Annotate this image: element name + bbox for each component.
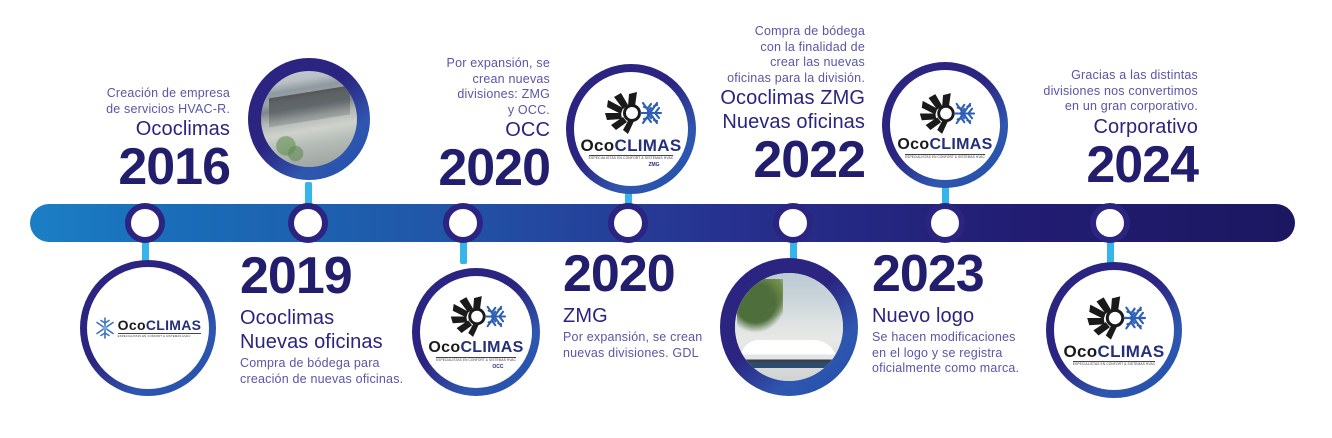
warehouse-aerial-photo xyxy=(261,71,357,167)
event-year: 2020 xyxy=(395,142,550,194)
timeline-node-5[interactable] xyxy=(773,203,813,243)
logo-division-label: OCC xyxy=(492,365,503,370)
event-year: 2020 xyxy=(563,248,728,300)
ococlimas-logo-classic: OcoCLIMAS ESPECIALISTAS EN CONFORT & SIS… xyxy=(95,317,202,339)
logo-tagline: ESPECIALISTAS EN CONFORT & SISTEMAS HVAC xyxy=(589,155,674,160)
event-description: Compra de bódega con la finalidad de cre… xyxy=(690,24,865,86)
fan-snowflake-icon xyxy=(445,294,507,339)
media-logo-plain-bottom: OcoCLIMAS ESPECIALISTAS EN CONFORT & SIS… xyxy=(1046,262,1182,398)
timeline-node-7[interactable] xyxy=(1090,203,1130,243)
event-text-2024: Gracias a las distintas divisiones nos c… xyxy=(1003,68,1198,191)
event-description: Se hacen modificaciones en el logo y se … xyxy=(872,330,1037,377)
event-description: Por expansión, se crean nuevas divisione… xyxy=(563,330,728,361)
event-description: Por expansión, se crean nuevas divisione… xyxy=(395,56,550,118)
event-year: 2023 xyxy=(872,248,1037,300)
media-logo-occ: OcoCLIMAS ESPECIALISTAS EN CONFORT & SIS… xyxy=(412,268,540,396)
media-logo-plain-top: OcoCLIMAS ESPECIALISTAS EN CONFORT & SIS… xyxy=(882,62,1008,188)
logo-division-label: ZMG xyxy=(648,163,659,168)
office-car-photo xyxy=(735,273,843,381)
media-logo-classic: OcoCLIMAS ESPECIALISTAS EN CONFORT & SIS… xyxy=(80,260,216,396)
event-description: Gracias a las distintas divisiones nos c… xyxy=(1003,68,1198,115)
logo-wordmark: OcoCLIMAS xyxy=(118,318,202,332)
timeline-node-2[interactable] xyxy=(288,203,328,243)
event-headline: ZMG xyxy=(563,304,728,328)
ococlimas-logo-occ: OcoCLIMAS ESPECIALISTAS EN CONFORT & SIS… xyxy=(428,294,523,369)
event-text-2022: Compra de bódega con la finalidad de cre… xyxy=(690,24,865,186)
logo-tagline: ESPECIALISTAS EN CONFORT & SISTEMAS HVAC xyxy=(905,154,985,159)
event-year: 2016 xyxy=(30,141,230,193)
logo-wordmark: OcoCLIMAS xyxy=(581,137,682,154)
ococlimas-logo-plain-2: OcoCLIMAS ESPECIALISTAS EN CONFORT & SIS… xyxy=(1064,294,1165,366)
timeline-node-4[interactable] xyxy=(608,203,648,243)
event-headline: Corporativo xyxy=(1003,115,1198,139)
ococlimas-logo-plain: OcoCLIMAS ESPECIALISTAS EN CONFORT & SIS… xyxy=(897,91,992,159)
event-text-2020-occ: Por expansión, se crean nuevas divisione… xyxy=(395,56,550,194)
event-year: 2019 xyxy=(240,250,415,302)
event-headline: Ococlimas Nuevas oficinas xyxy=(240,306,415,354)
timeline-node-6[interactable] xyxy=(925,203,965,243)
timeline-node-1[interactable] xyxy=(125,203,165,243)
event-year: 2022 xyxy=(690,134,865,186)
logo-tagline: ESPECIALISTAS EN CONFORT & SISTEMAS HVAC xyxy=(1073,361,1156,366)
logo-wordmark: OcoCLIMAS xyxy=(428,340,523,356)
media-photo-warehouse xyxy=(248,58,370,180)
fan-snowflake-icon xyxy=(914,91,976,136)
event-text-2020-zmg: 2020 ZMG Por expansión, se crean nuevas … xyxy=(563,248,728,361)
logo-tagline: ESPECIALISTAS EN CONFORT & SISTEMAS HVAC xyxy=(118,333,202,338)
event-year: 2024 xyxy=(1003,139,1198,191)
logo-wordmark: OcoCLIMAS xyxy=(897,137,992,153)
logo-tagline: ESPECIALISTAS EN CONFORT & SISTEMAS HVAC xyxy=(436,357,516,362)
event-description: Compra de bódega para creación de nuevas… xyxy=(240,356,415,387)
logo-wordmark: OcoCLIMAS xyxy=(1064,343,1165,360)
media-photo-office-car xyxy=(720,258,858,396)
media-logo-zmg: OcoCLIMAS ESPECIALISTAS EN CONFORT & SIS… xyxy=(566,64,696,194)
timeline-node-3[interactable] xyxy=(443,203,483,243)
event-headline: Ococlimas ZMG Nuevas oficinas xyxy=(690,86,865,134)
event-headline: Nuevo logo xyxy=(872,304,1037,328)
event-description: Creación de empresa de servicios HVAC-R. xyxy=(30,86,230,117)
ococlimas-logo-zmg: OcoCLIMAS ESPECIALISTAS EN CONFORT & SIS… xyxy=(581,90,682,167)
snowflake-icon xyxy=(95,317,115,339)
event-text-2023: 2023 Nuevo logo Se hacen modificaciones … xyxy=(872,248,1037,377)
timeline-infographic: Creación de empresa de servicios HVAC-R.… xyxy=(0,0,1332,438)
event-text-2019: 2019 Ococlimas Nuevas oficinas Compra de… xyxy=(240,250,415,387)
event-text-2016: Creación de empresa de servicios HVAC-R.… xyxy=(30,86,230,193)
fan-snowflake-icon xyxy=(599,90,663,136)
fan-snowflake-icon xyxy=(1081,294,1147,342)
